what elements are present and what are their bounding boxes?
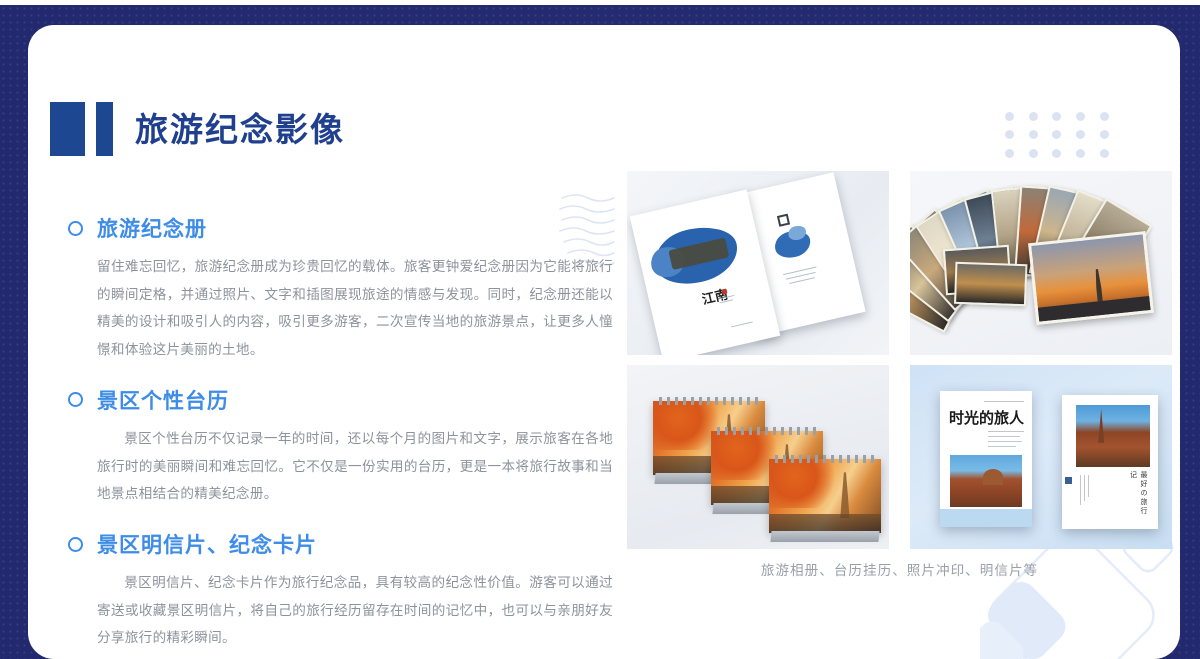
calendar-spiral-binding-icon — [659, 397, 759, 405]
dot-grid-decoration — [998, 107, 1116, 163]
gallery-image-desk-calendar-set[interactable] — [627, 365, 889, 549]
photo-print-sea-band — [1038, 296, 1151, 321]
autumn-foliage — [769, 459, 843, 508]
section-postcards-cards: 景区明信片、纪念卡片 景区明信片、纪念卡片作为旅行纪念品，具有较高的纪念性价值。… — [68, 529, 613, 653]
publisher-logo-icon — [1065, 477, 1072, 484]
book-text-line — [988, 441, 1022, 442]
book-cover-photo — [1076, 405, 1150, 467]
section-heading: 景区明信片、纪念卡片 — [68, 529, 613, 559]
page-title: 旅游纪念影像 — [135, 113, 345, 146]
book-text-line — [988, 436, 1020, 437]
album-text-line — [783, 267, 816, 276]
book-cover-photo — [950, 455, 1022, 507]
section-title: 景区明信片、纪念卡片 — [97, 529, 317, 559]
section-body: 景区明信片、纪念卡片作为旅行纪念品，具有较高的纪念性价值。游客可以通过寄送或收藏… — [97, 570, 613, 653]
album-text-line — [789, 277, 815, 284]
circle-bullet-icon — [68, 392, 83, 407]
book-text-line — [984, 401, 1024, 402]
section-body: 景区个性台历不仅记录一年的时间，还以每个月的图片和文字，展示旅客在各地旅行时的美… — [97, 426, 613, 509]
section-title: 旅游纪念册 — [97, 213, 207, 243]
calendar-spiral-binding-icon — [717, 427, 817, 435]
section-body: 留住难忘回忆，旅游纪念册成为珍贵回忆的载体。旅客更钟爱纪念册因为它能将旅行的瞬间… — [97, 254, 613, 365]
section-heading: 旅游纪念册 — [68, 213, 613, 243]
photo-print-sunset-tower — [1028, 231, 1154, 325]
maiden-tower-icon — [1092, 269, 1105, 304]
content-sections: 旅游纪念册 留住难忘回忆，旅游纪念册成为珍贵回忆的载体。旅客更钟爱纪念册因为它能… — [68, 213, 613, 653]
title-accent-bar-narrow — [96, 102, 113, 156]
calendar-photo-face — [769, 459, 881, 533]
book-text-line — [988, 446, 1016, 447]
book-text-line — [1080, 475, 1081, 505]
desk-calendar — [769, 459, 881, 533]
album-text-line — [731, 321, 753, 327]
book-text-line — [1084, 475, 1085, 501]
section-travel-album: 旅游纪念册 留住难忘回忆，旅游纪念册成为珍贵回忆的载体。旅客更钟爱纪念册因为它能… — [68, 213, 613, 365]
album-square-mark-icon — [777, 214, 790, 227]
book-text-line — [1088, 475, 1089, 497]
book-text-line — [988, 431, 1024, 432]
calendar-stand-base — [770, 531, 879, 542]
church-spire-icon — [1098, 409, 1104, 443]
calendar-spiral-binding-icon — [775, 455, 875, 463]
circle-bullet-icon — [68, 537, 83, 552]
photo-book-back: 最好の旅行记 — [1062, 395, 1158, 529]
gallery-image-photo-book-pair[interactable]: 时光的旅人 最好の旅行记 — [910, 365, 1172, 549]
photo-print-card — [954, 262, 1027, 306]
section-scenic-desk-calendar: 景区个性台历 景区个性台历不仅记录一年的时间，还以每个月的图片和文字，展示旅客在… — [68, 385, 613, 509]
photo-book-title-b: 最好の旅行记 — [1128, 471, 1149, 517]
gallery-image-travel-photo-album[interactable]: 江南 — [627, 171, 889, 355]
gallery-image-photo-print-fan[interactable] — [910, 171, 1172, 355]
photo-book-front: 时光的旅人 — [940, 391, 1032, 527]
gallery-caption: 旅游相册、台历挂历、照片冲印、明信片等 — [627, 559, 1172, 579]
photo-book-title-a: 时光的旅人 — [949, 407, 1024, 428]
gallery-grid: 江南 — [627, 171, 1172, 549]
title-accent-bar-wide — [50, 102, 85, 156]
church-dome-icon — [983, 469, 1003, 485]
section-title: 景区个性台历 — [97, 385, 229, 415]
slide-content-card: 旅游纪念影像 旅游纪念册 留住难忘回忆，旅游纪念册成为珍贵回忆的载体。旅客更钟爱… — [28, 25, 1180, 659]
circle-bullet-icon — [68, 221, 83, 236]
slide-title-block: 旅游纪念影像 — [50, 102, 345, 156]
book-footer-band — [940, 509, 1032, 527]
section-heading: 景区个性台历 — [68, 385, 613, 415]
